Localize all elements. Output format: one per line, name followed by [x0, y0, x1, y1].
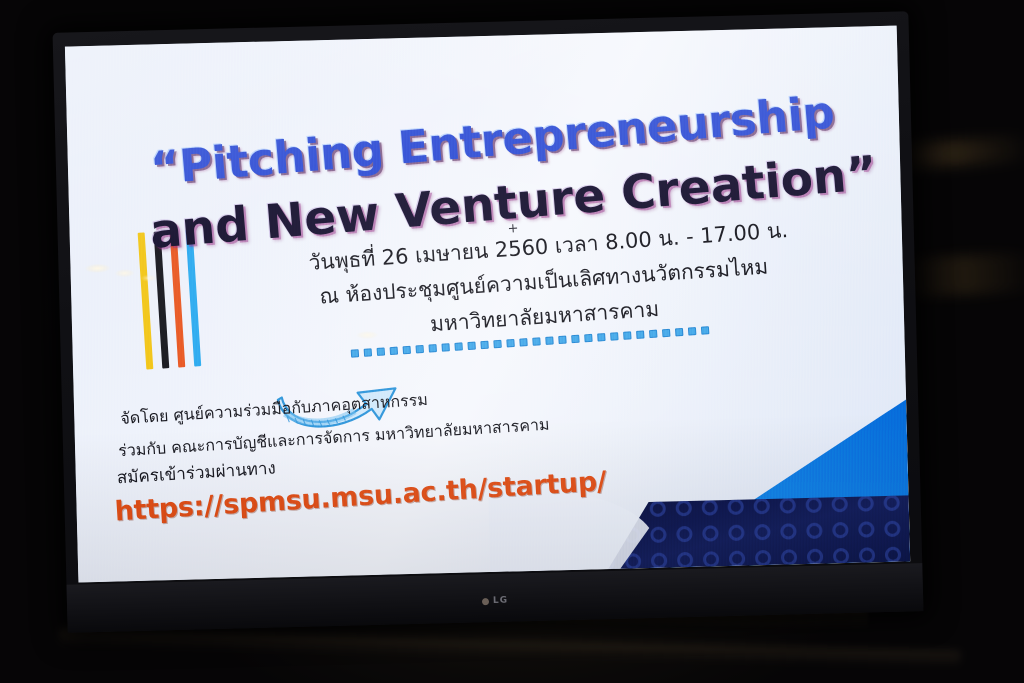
tv-screen[interactable]: “Pitching Entrepreneurship and New Ventu…	[65, 26, 910, 583]
superscript-mark: +	[507, 221, 519, 237]
presentation-slide: “Pitching Entrepreneurship and New Ventu…	[65, 26, 910, 583]
lg-mark-icon	[482, 598, 489, 605]
lg-logo: LG	[482, 596, 508, 607]
photo-scene: “Pitching Entrepreneurship and New Ventu…	[0, 0, 1024, 683]
bench-shadow	[60, 629, 960, 667]
television: “Pitching Entrepreneurship and New Ventu…	[53, 11, 924, 632]
lg-brand-text: LG	[493, 596, 508, 606]
